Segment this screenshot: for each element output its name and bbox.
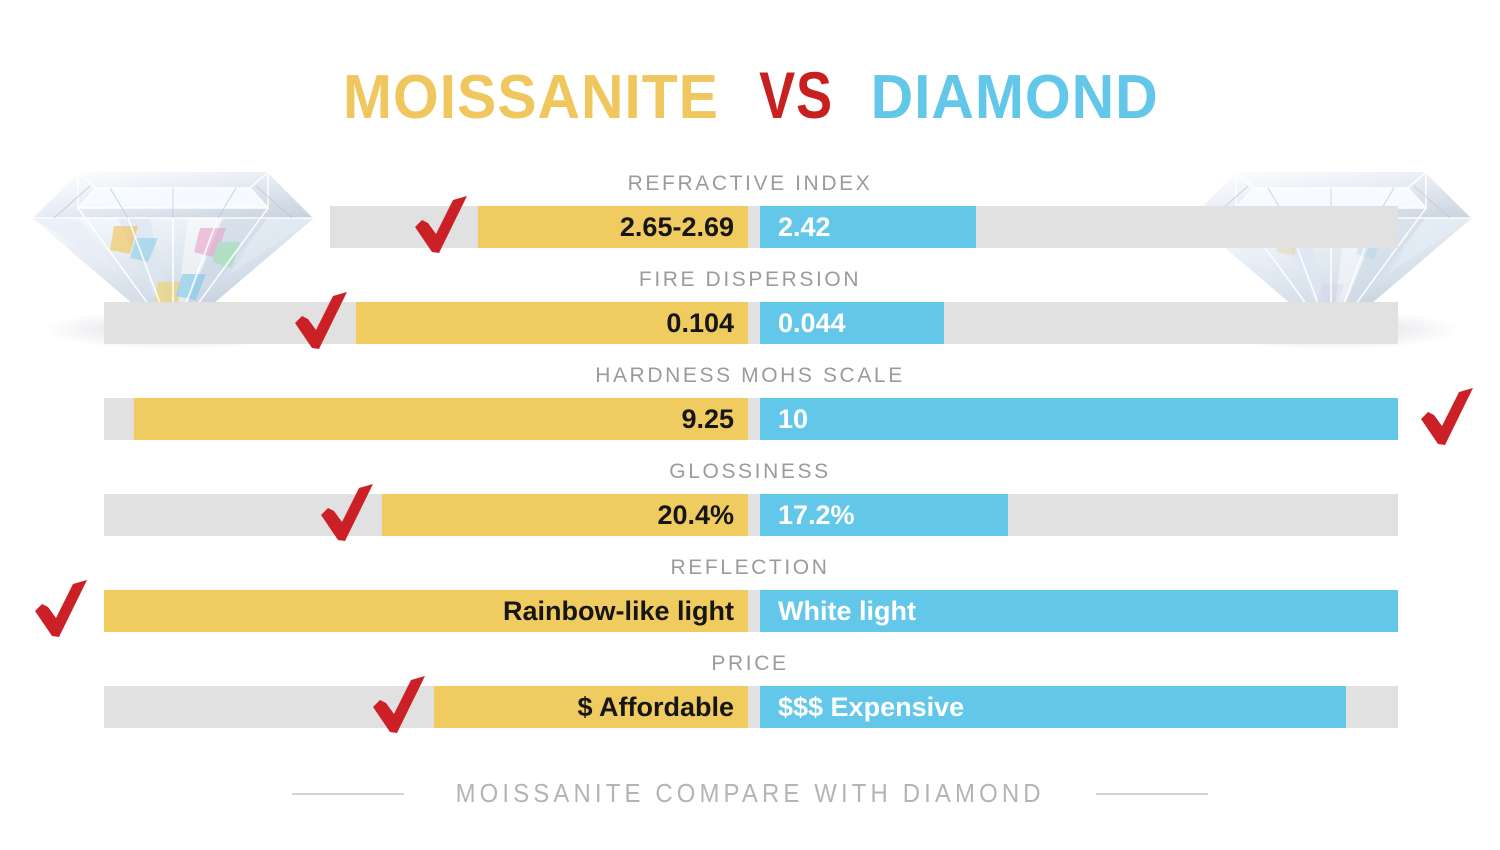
comparison-row: REFRACTIVE INDEX2.65-2.692.42 [0,168,1500,264]
moissanite-value: 0.104 [666,310,734,337]
moissanite-value: 2.65-2.69 [620,214,734,241]
diamond-value: 10 [778,406,808,433]
comparison-rows: REFRACTIVE INDEX2.65-2.692.42FIRE DISPER… [0,168,1500,744]
comparison-row: FIRE DISPERSION0.1040.044 [0,264,1500,360]
row-label: REFRACTIVE INDEX [0,172,1500,196]
checkmark-icon [412,194,472,256]
row-label: REFLECTION [0,556,1500,580]
diamond-value: 17.2% [778,502,855,529]
moissanite-value: $ Affordable [577,694,734,721]
row-label: GLOSSINESS [0,460,1500,484]
comparison-row: PRICE$ Affordable$$$ Expensive [0,648,1500,744]
diamond-bar: 2.42 [760,206,976,248]
moissanite-bar: 20.4% [382,494,748,536]
comparison-row: REFLECTIONRainbow-like lightWhite light [0,552,1500,648]
page-title: MOISSANITEVSDIAMOND [0,62,1500,129]
diamond-value: White light [778,598,916,625]
moissanite-bar: $ Affordable [434,686,748,728]
row-label: HARDNESS MOHS SCALE [0,364,1500,388]
title-moissanite: MOISSANITE [343,67,719,129]
title-diamond: DIAMOND [871,67,1159,129]
diamond-bar: 10 [760,398,1398,440]
checkmark-icon [32,578,92,640]
diamond-bar: 17.2% [760,494,1008,536]
row-label: PRICE [0,652,1500,676]
checkmark-icon [292,290,352,352]
infographic-page: { "title": { "left": "MOISSANITE", "midd… [0,0,1500,850]
diamond-bar: White light [760,590,1398,632]
moissanite-value: 20.4% [657,502,734,529]
footer-text: MOISSANITE COMPARE WITH DIAMOND [455,778,1044,809]
footer: MOISSANITE COMPARE WITH DIAMOND [0,778,1500,809]
diamond-bar: 0.044 [760,302,944,344]
row-track [104,494,1398,536]
checkmark-icon [370,674,430,736]
diamond-value: 0.044 [778,310,846,337]
diamond-bar: $$$ Expensive [760,686,1346,728]
moissanite-bar: Rainbow-like light [104,590,748,632]
moissanite-bar: 9.25 [134,398,748,440]
title-vs: VS [759,62,833,128]
moissanite-bar: 2.65-2.69 [478,206,748,248]
footer-rule-left [292,793,404,795]
diamond-value: 2.42 [778,214,831,241]
moissanite-value: 9.25 [681,406,734,433]
comparison-row: HARDNESS MOHS SCALE9.2510 [0,360,1500,456]
row-label: FIRE DISPERSION [0,268,1500,292]
moissanite-value: Rainbow-like light [503,598,734,625]
footer-rule-right [1096,793,1208,795]
moissanite-bar: 0.104 [356,302,748,344]
comparison-row: GLOSSINESS20.4%17.2% [0,456,1500,552]
checkmark-icon [1418,386,1478,448]
checkmark-icon [318,482,378,544]
diamond-value: $$$ Expensive [778,694,964,721]
